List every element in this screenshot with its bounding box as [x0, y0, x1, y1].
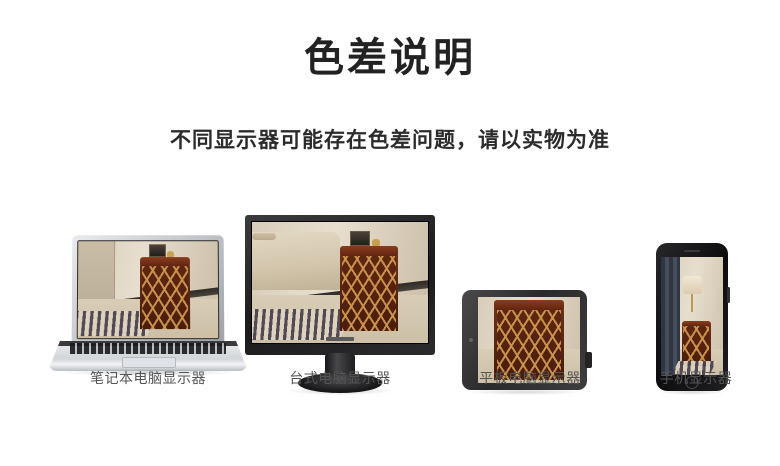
- caption-laptop: 笔记本电脑显示器: [38, 368, 258, 388]
- laptop-screen-photo: [78, 241, 219, 338]
- monitor-screen-photo: [252, 222, 428, 343]
- photo-cushion: [252, 233, 276, 241]
- camera-icon: [469, 338, 473, 342]
- photo-table-leg-left: [140, 266, 142, 329]
- device-showcase-row: [0, 195, 780, 395]
- photo-table-leg-right: [709, 326, 710, 365]
- photo-table-leg-right: [188, 266, 190, 329]
- photo-lamp-stem: [691, 294, 693, 313]
- speaker-icon: [684, 250, 700, 252]
- photo-table-frames: [350, 231, 369, 247]
- laptop-trackpad: [122, 357, 176, 368]
- tablet-side-button[interactable]: [585, 352, 592, 368]
- color-difference-notice-page: 色差说明 不同显示器可能存在色差问题，请以实物为准: [0, 0, 780, 466]
- monitor-screen: [251, 221, 429, 344]
- laptop-screen: [77, 240, 220, 339]
- caption-phone: 手机显示器: [586, 368, 780, 388]
- monitor-shadow: [285, 387, 395, 395]
- caption-monitor: 台式电脑显示器: [230, 368, 450, 388]
- photo-table-lattice: [683, 326, 710, 365]
- page-subtitle: 不同显示器可能存在色差问题，请以实物为准: [0, 126, 780, 156]
- photo-sofa: [252, 232, 340, 290]
- photo-table-lattice: [141, 266, 189, 329]
- photo-side-table: [340, 246, 398, 331]
- photo-table-lattice: [342, 256, 397, 331]
- photo-table-leg-right: [396, 256, 398, 331]
- phone-shadow: [658, 389, 726, 395]
- photo-table-ornament: [372, 239, 380, 247]
- phone-side-button[interactable]: [727, 287, 730, 303]
- laptop-keyboard: [70, 343, 226, 354]
- page-title: 色差说明: [0, 32, 780, 84]
- laptop-lid: [72, 235, 225, 347]
- photo-table-leg-left: [682, 326, 683, 365]
- phone-screen-photo: [661, 257, 723, 375]
- photo-side-table: [140, 258, 191, 330]
- monitor-brand-logo: [326, 337, 354, 341]
- photo-table-leg-left: [340, 256, 342, 331]
- photo-curtain: [661, 257, 680, 375]
- laptop-base: [48, 341, 248, 371]
- phone-screen: [661, 257, 723, 375]
- photo-table-frames: [149, 244, 166, 257]
- photo-wall-panel: [78, 241, 116, 303]
- monitor-bezel: [245, 215, 435, 355]
- tablet-shadow: [466, 389, 584, 395]
- photo-side-table: [682, 321, 711, 366]
- photo-lamp-shade: [683, 276, 702, 294]
